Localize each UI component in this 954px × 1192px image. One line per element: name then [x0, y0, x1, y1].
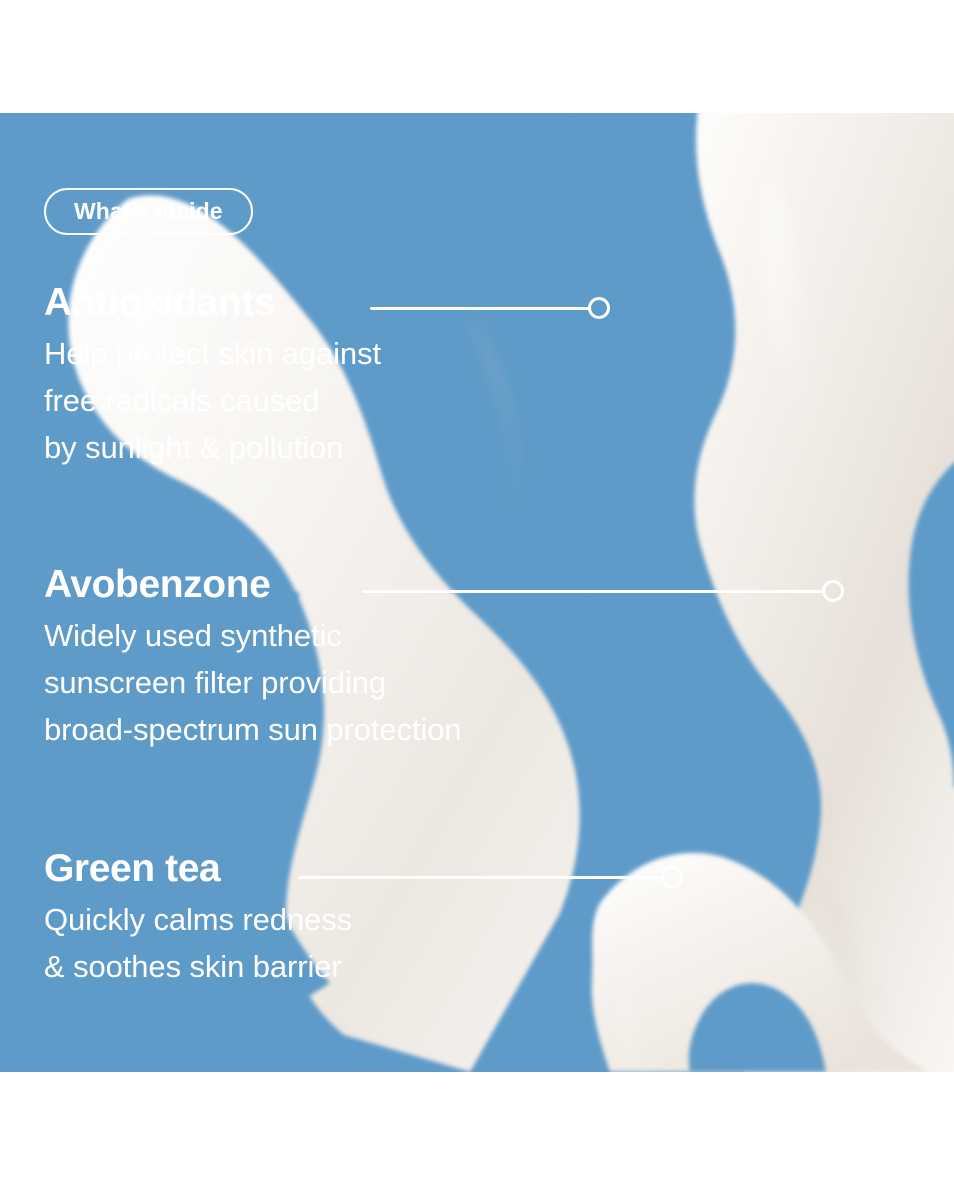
- whats-inside-badge[interactable]: What’s inside: [44, 188, 253, 235]
- connector-line: [362, 590, 824, 593]
- circle-outline-marker-icon: [588, 297, 610, 319]
- circle-outline-marker-icon: [822, 580, 844, 602]
- ingredient-block-antioxidants: Antioxidants Help protect skin against f…: [44, 283, 381, 471]
- connector-green-tea: [298, 864, 683, 890]
- connector-line: [298, 876, 663, 879]
- connector-line: [370, 307, 590, 310]
- ingredient-description: Help protect skin against free radicals …: [44, 330, 381, 471]
- ingredient-description: Widely used synthetic sunscreen filter p…: [44, 612, 462, 753]
- connector-antioxidants: [370, 295, 610, 321]
- ingredient-name: Antioxidants: [44, 283, 381, 322]
- connector-avobenzone: [362, 578, 844, 604]
- circle-outline-marker-icon: [661, 866, 683, 888]
- product-ingredients-card: What’s inside Antioxidants Help protect …: [0, 0, 954, 1192]
- ingredient-description: Quickly calms redness & soothes skin bar…: [44, 896, 352, 990]
